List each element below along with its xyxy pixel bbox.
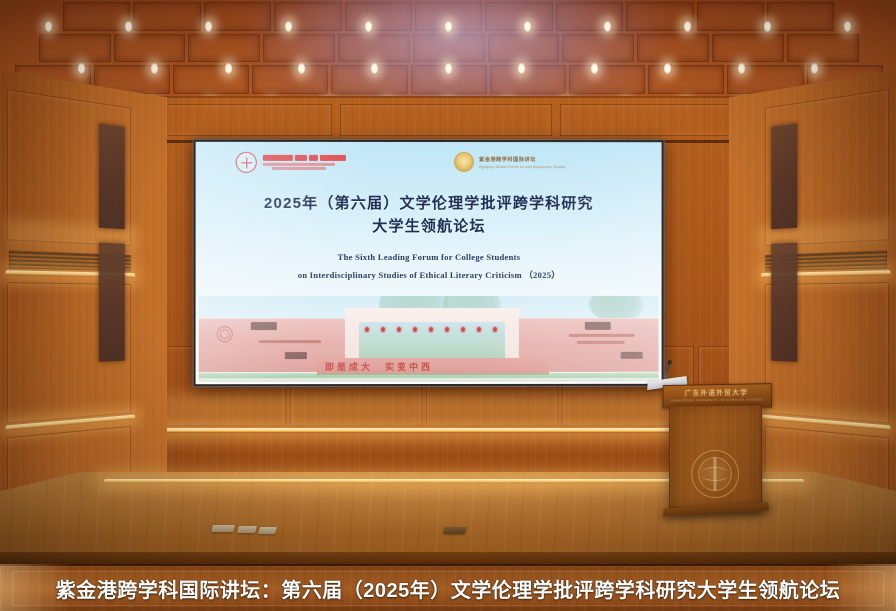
ceiling-downlight [297, 62, 306, 75]
floor-outlet-box [443, 527, 467, 534]
campus-gate-photo: 即是成大 实变中西 [199, 296, 659, 382]
ceiling-coffer [63, 2, 130, 31]
ceiling-coffer [712, 34, 784, 63]
slide-subtitle-line-2: on Interdisciplinary Studies of Ethical … [196, 267, 662, 285]
forum-badge-icon [454, 152, 474, 172]
ceiling-downlight [683, 20, 692, 33]
gate-banner-text: 即是成大 实变中西 [325, 360, 433, 373]
ceiling-downlight [364, 20, 373, 33]
gdufs-emblem [691, 450, 739, 498]
ceiling-coffer [39, 34, 111, 63]
ceiling-downlight [204, 20, 213, 33]
forum-name-cn: 紫金港跨学科国际讲坛 [479, 156, 566, 163]
logo-mark-row [263, 155, 346, 161]
slide-title: 2025年（第六届）文学伦理学批评跨学科研究 大学生领航论坛 [196, 192, 662, 239]
logo-subtext [272, 167, 326, 170]
gdufs-seal-logo [236, 152, 346, 173]
logo-wordmark [263, 155, 346, 170]
ceiling-downlight [843, 20, 852, 33]
ceiling-downlight [444, 20, 453, 33]
floor-outlet-box [237, 526, 257, 533]
caption-bar: 紫金港跨学科国际讲坛：第六届（2025年）文学伦理学批评跨学科研究大学生领航论坛 [0, 564, 896, 611]
red-lantern [445, 327, 449, 332]
ceiling-coffer [114, 34, 186, 63]
building-name-text [577, 341, 625, 344]
forum-name-en: Zijingang Global Forum on Interdisciplin… [479, 165, 566, 169]
projection-screen: 紫金港跨学科国际讲坛 Zijingang Global Forum on Int… [196, 142, 662, 384]
building-name-text [259, 340, 321, 343]
acoustic-panel [771, 123, 797, 229]
building-seal-icon [217, 326, 233, 342]
podium: 广东外语外贸大学 GUANGDONG UNIVERSITY OF FOREIGN… [655, 380, 805, 545]
building-window [621, 352, 643, 359]
red-lantern [477, 327, 481, 332]
slide-title-line-2: 大学生领航论坛 [196, 215, 662, 238]
ceiling-downlight [517, 62, 526, 75]
ceiling-coffer [188, 34, 260, 63]
building-window [251, 322, 277, 330]
red-lantern [493, 327, 497, 332]
floor-outlet-box [211, 525, 235, 532]
ceiling-coffer [173, 65, 249, 94]
slide-subtitle-line-1: The Sixth Leading Forum for College Stud… [196, 249, 662, 267]
panel-divider [150, 96, 746, 98]
acoustic-panel [771, 243, 797, 362]
ceiling-downlight [737, 62, 746, 75]
ceiling-downlight [77, 62, 86, 75]
slide-title-line-1: 2025年（第六届）文学伦理学批评跨学科研究 [196, 192, 662, 215]
ceiling-coffer [787, 34, 859, 63]
ceiling-downlight [810, 62, 819, 75]
logo-bar [320, 155, 346, 161]
university-seal-icon [236, 152, 257, 173]
wall-panel [340, 104, 552, 136]
red-lantern [365, 327, 369, 332]
ceiling-downlight [224, 62, 233, 75]
projection-screen-frame: 紫金港跨学科国际讲坛 Zijingang Global Forum on Int… [193, 139, 665, 387]
building-window [285, 352, 307, 359]
cove-light-strip [158, 428, 738, 433]
forum-wordmark: 紫金港跨学科国际讲坛 Zijingang Global Forum on Int… [479, 156, 566, 169]
ceiling-downlight [284, 20, 293, 33]
caption-text: 紫金港跨学科国际讲坛：第六届（2025年）文学伦理学批评跨学科研究大学生领航论坛 [56, 574, 841, 603]
photo-path [199, 378, 659, 382]
logo-bar [309, 155, 318, 161]
red-lantern [397, 327, 401, 332]
red-lantern [461, 327, 465, 332]
logo-bar [263, 155, 293, 161]
logo-bar [295, 155, 307, 161]
building-name-text [569, 334, 635, 337]
left-wall [0, 70, 167, 540]
slide-subtitle: The Sixth Leading Forum for College Stud… [196, 249, 662, 284]
floor-outlet-box [258, 527, 277, 534]
podium-nameplate-en: GUANGDONG UNIVERSITY OF FOREIGN STUDIES [663, 397, 770, 402]
wall-panel [160, 104, 332, 136]
zijingang-forum-logo: 紫金港跨学科国际讲坛 Zijingang Global Forum on Int… [454, 152, 566, 172]
ceiling-coffer [767, 2, 834, 31]
acoustic-panel [99, 243, 125, 362]
ceiling-downlight [763, 20, 772, 33]
ceiling-coffer [133, 2, 200, 31]
red-lantern [381, 327, 385, 332]
red-lantern [413, 327, 417, 332]
ceiling-coffer [697, 2, 764, 31]
podium-body [669, 404, 762, 509]
logo-subtext [263, 162, 335, 165]
acoustic-panel [99, 123, 125, 229]
building-window [585, 322, 611, 330]
slide-logo-row: 紫金港跨学科国际讲坛 Zijingang Global Forum on Int… [196, 152, 662, 188]
auditorium-photo: 紫金港跨学科国际讲坛 Zijingang Global Forum on Int… [0, 0, 896, 611]
wall-panel [560, 104, 738, 136]
ceiling-downlight [444, 62, 453, 75]
red-lantern [429, 327, 433, 332]
